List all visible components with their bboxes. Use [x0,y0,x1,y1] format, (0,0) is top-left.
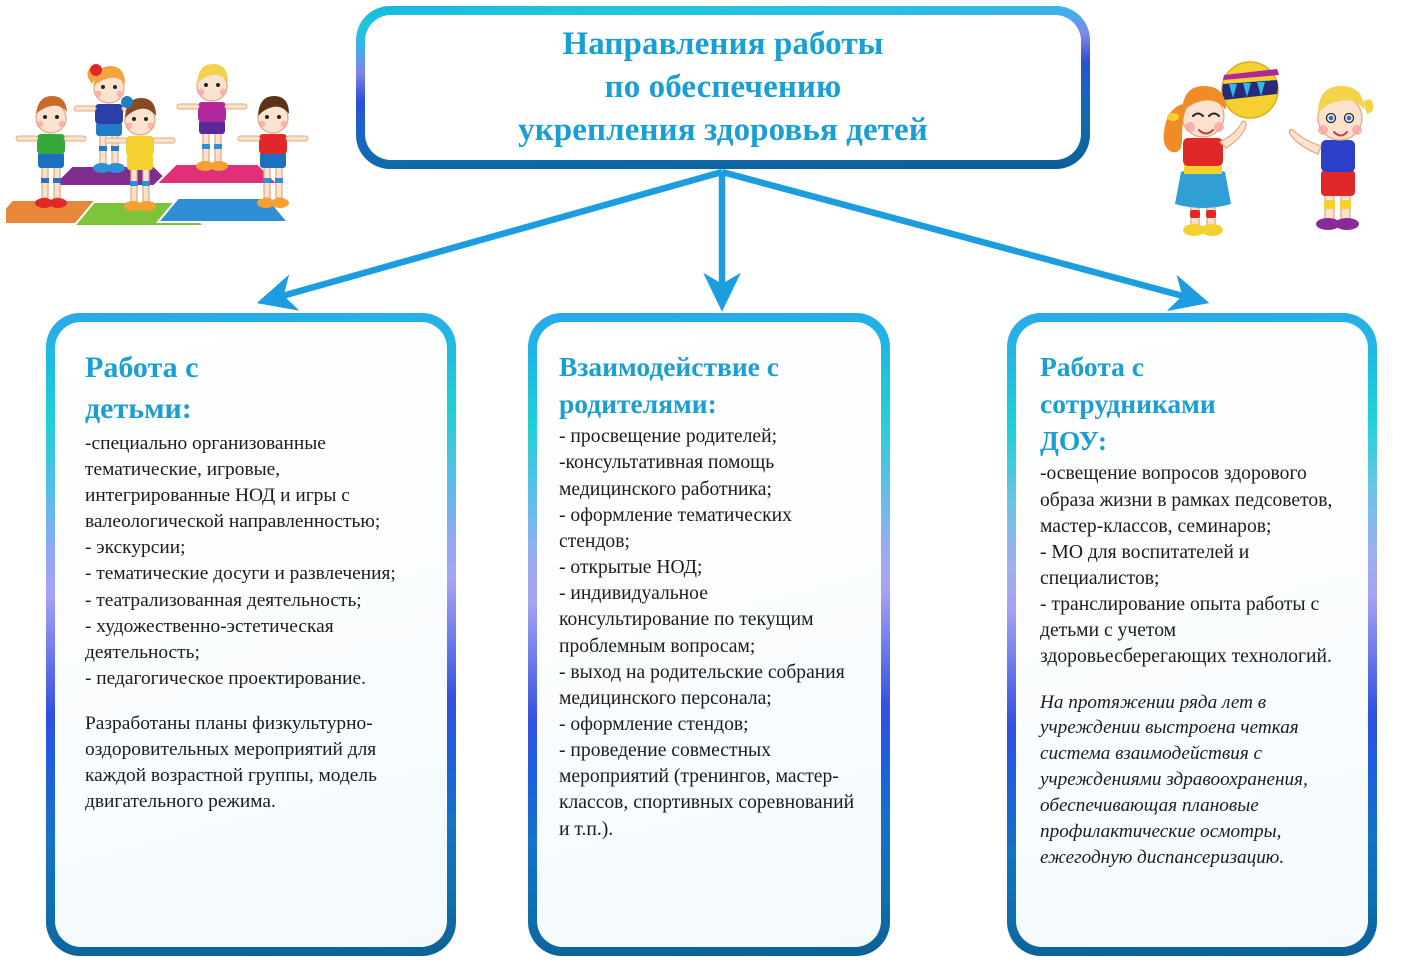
child-figure [1164,86,1246,236]
category-box-parents: Взаимодействие с родителями: - просвещен… [528,313,890,956]
category-body-parents: - просвещение родителей; -консультативна… [559,424,859,843]
category-box-parents-inner: Взаимодействие с родителями: - просвещен… [537,322,881,947]
arrow-to-children [268,172,722,300]
child-figure [105,96,175,211]
title-box-inner: Направления работы по обеспечению укрепл… [365,15,1081,160]
category-heading-parents: Взаимодействие с родителями: [559,348,859,422]
ball-icon [1222,62,1279,118]
children-exercising-on-mats-illustration [6,48,336,253]
diagram-canvas: Направления работы по обеспечению укрепл… [0,0,1415,975]
category-box-staff-inner: Работа с сотрудниками ДОУ: -освещение во… [1016,322,1368,947]
child-figure [238,96,308,208]
page-title: Направления работы по обеспечению укрепл… [518,23,928,152]
category-note-staff: На протяжении ряда лет в учреждении выст… [1040,690,1346,871]
category-box-children-inner: Работа с детьми: -специально организован… [55,322,447,947]
child-figure [1289,86,1373,230]
title-box: Направления работы по обеспечению укрепл… [356,6,1090,169]
arrow-to-staff [722,172,1198,300]
category-body-staff: -освещение вопросов здорового образа жиз… [1040,461,1346,670]
children-playing-ball-illustration [1135,42,1415,257]
category-note-children: Разработаны планы физкультурно-оздоровит… [85,711,425,815]
exercise-mats [6,164,288,226]
category-box-children: Работа с детьми: -специально организован… [46,313,456,956]
child-figure [16,96,86,208]
category-heading-children: Работа с детьми: [85,348,425,429]
category-body-children: -специально организованные тематические,… [85,431,425,692]
category-heading-staff: Работа с сотрудниками ДОУ: [1040,348,1346,459]
child-figure [177,64,247,171]
category-box-staff: Работа с сотрудниками ДОУ: -освещение во… [1007,313,1377,956]
child-figure [74,64,144,173]
